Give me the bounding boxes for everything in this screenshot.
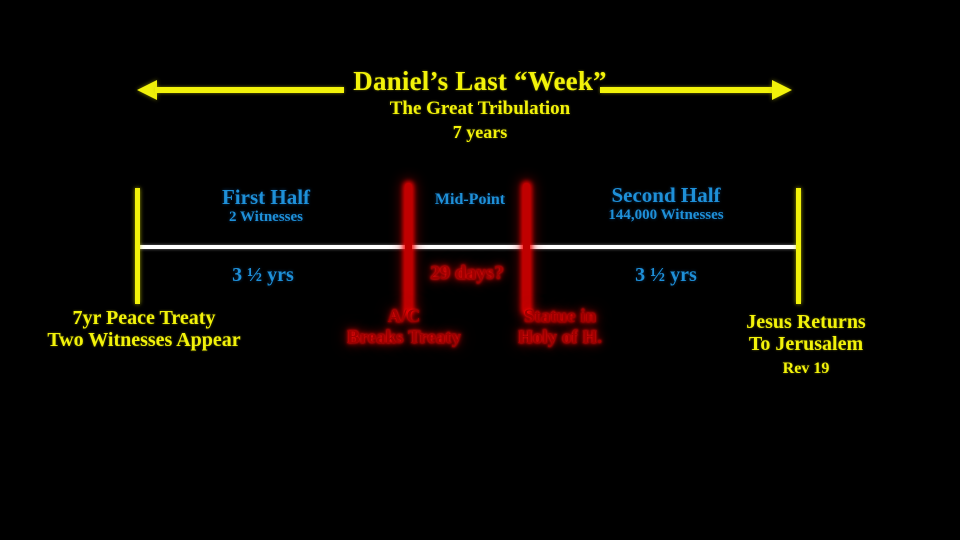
timeline-axis bbox=[137, 245, 799, 249]
slide-title: Daniel’s Last “Week” bbox=[0, 68, 960, 95]
second-half-heading-block: Second Half 144,000 Witnesses bbox=[566, 184, 766, 224]
end-event-line1: Jesus Returns bbox=[686, 311, 926, 333]
first-half-heading-block: First Half 2 Witnesses bbox=[166, 186, 366, 226]
tick-start-marker bbox=[135, 188, 140, 304]
start-event-label: 7yr Peace Treaty Two Witnesses Appear bbox=[8, 307, 280, 352]
end-event-line2: To Jerusalem bbox=[686, 333, 926, 355]
second-half-subheading: 144,000 Witnesses bbox=[566, 208, 766, 224]
start-event-line2: Two Witnesses Appear bbox=[8, 329, 280, 351]
start-event-line1: 7yr Peace Treaty bbox=[8, 307, 280, 329]
tick-midpoint-left-marker bbox=[405, 183, 412, 313]
statue-event-label: Statue in Holy of H. bbox=[482, 307, 638, 348]
midpoint-duration: 29 days? bbox=[405, 263, 529, 285]
end-event-reference: Rev 19 bbox=[686, 360, 926, 378]
midpoint-heading: Mid-Point bbox=[418, 191, 522, 209]
second-half-duration: 3 ½ yrs bbox=[566, 264, 766, 287]
first-half-duration: 3 ½ yrs bbox=[163, 264, 363, 287]
antichrist-event-label: A/C Breaks Treaty bbox=[318, 307, 490, 348]
first-half-subheading: 2 Witnesses bbox=[166, 210, 366, 226]
antichrist-event-line1: A/C bbox=[318, 307, 490, 328]
end-event-label: Jesus Returns To Jerusalem Rev 19 bbox=[686, 311, 926, 378]
statue-event-line2: Holy of H. bbox=[482, 328, 638, 349]
slide-title-block: Daniel’s Last “Week” The Great Tribulati… bbox=[0, 68, 960, 141]
slide-subtitle: The Great Tribulation bbox=[0, 99, 960, 118]
timeline-slide: Daniel’s Last “Week” The Great Tribulati… bbox=[0, 0, 960, 540]
slide-duration: 7 years bbox=[0, 123, 960, 141]
first-half-heading: First Half bbox=[222, 185, 310, 209]
tick-midpoint-right-marker bbox=[523, 183, 530, 313]
antichrist-event-line2: Breaks Treaty bbox=[318, 328, 490, 349]
second-half-heading: Second Half bbox=[611, 183, 720, 207]
tick-end-marker bbox=[796, 188, 801, 304]
statue-event-line1: Statue in bbox=[482, 307, 638, 328]
